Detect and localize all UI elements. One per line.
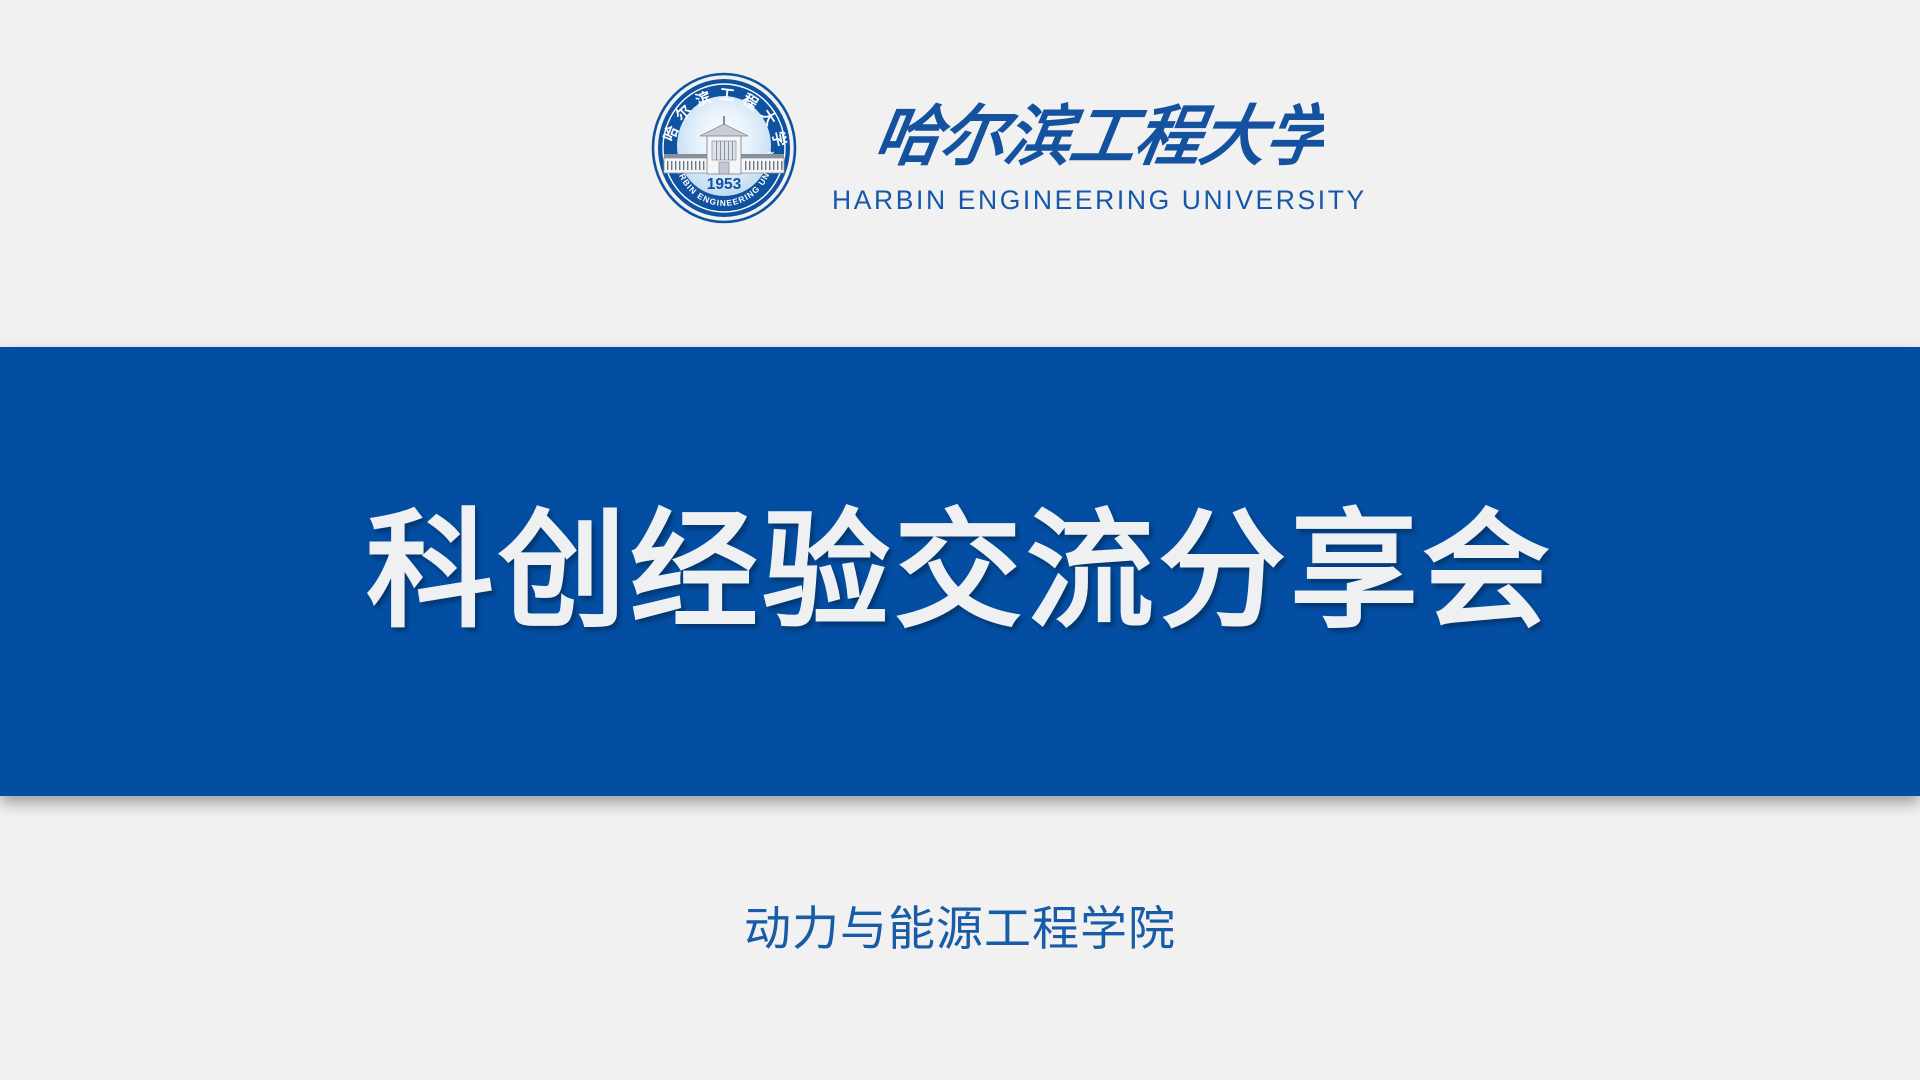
department-subtitle: 动力与能源工程学院	[0, 890, 1920, 959]
title-banner: 科创经验交流分享会	[0, 347, 1920, 796]
svg-text:哈尔滨工程大学: 哈尔滨工程大学	[874, 97, 1324, 175]
wordmark-english-label: HARBIN ENGINEERING UNIVERSITY	[832, 185, 1367, 216]
slide-root: 哈尔滨工程大学 HARBIN ENGINEERING UNIVERSITY	[0, 0, 1920, 1080]
university-crest-emblem-icon: 哈尔滨工程大学 HARBIN ENGINEERING UNIVERSITY	[650, 72, 798, 224]
university-wordmark: 哈尔滨工程大学 HARBIN ENGINEERING UNIVERSITY	[832, 81, 1367, 216]
emblem-year-label: 1953	[707, 176, 742, 193]
wordmark-chinese-calligraphy: 哈尔滨工程大学	[874, 87, 1324, 179]
university-logo-lockup: 哈尔滨工程大学 HARBIN ENGINEERING UNIVERSITY	[650, 72, 1367, 224]
presentation-title: 科创经验交流分享会	[0, 502, 1920, 640]
